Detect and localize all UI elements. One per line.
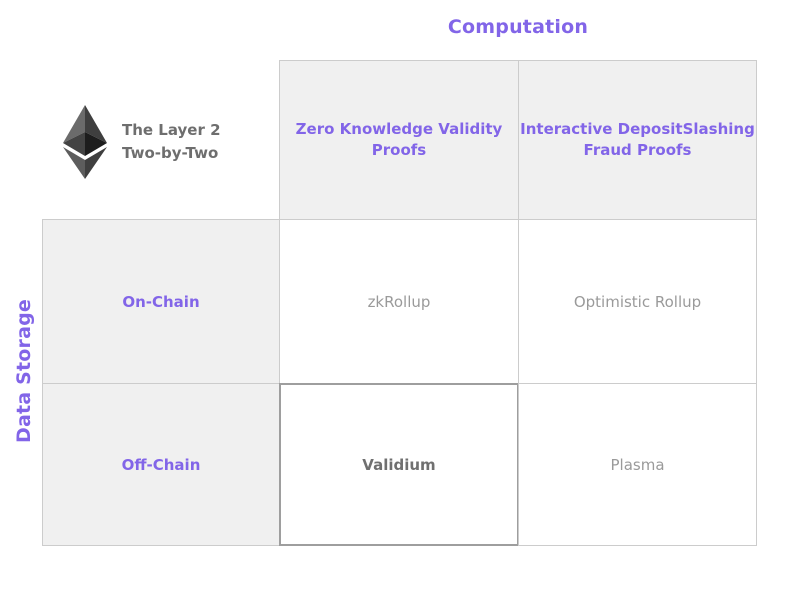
matrix-cell-optimistic-rollup[interactable]: Optimistic Rollup [518, 219, 757, 384]
column-axis-title: Computation [279, 16, 757, 38]
row-header-on-chain[interactable]: On-Chain [42, 219, 280, 384]
two-by-two-matrix: Zero Knowledge Validity Proofs Interacti… [42, 60, 757, 546]
row-header-off-chain[interactable]: Off-Chain [42, 383, 280, 546]
column-header-interactive[interactable]: Interactive DepositSlashing Fraud Proofs [518, 60, 757, 220]
matrix-cell-zkrollup[interactable]: zkRollup [279, 219, 519, 384]
row-axis-title: Data Storage [13, 291, 35, 451]
matrix-cell-plasma[interactable]: Plasma [518, 383, 757, 546]
column-header-zero-knowledge[interactable]: Zero Knowledge Validity Proofs [279, 60, 519, 220]
matrix-cell-validium[interactable]: Validium [279, 383, 519, 546]
